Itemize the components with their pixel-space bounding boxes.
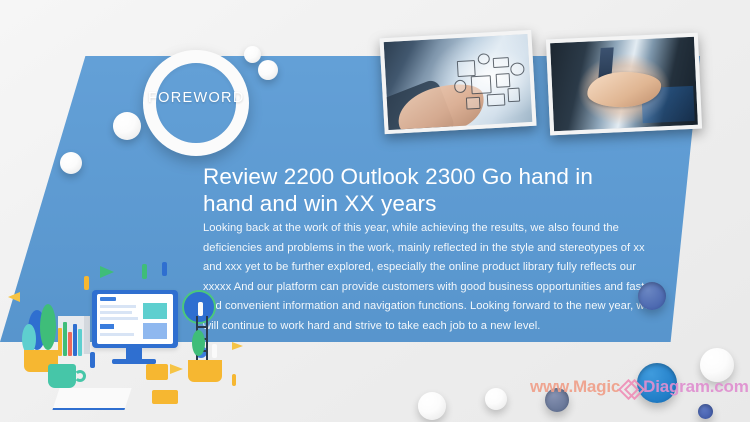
keyboard-shape: [52, 388, 131, 410]
decor-dot: [60, 152, 82, 174]
handshake-photo: [546, 33, 702, 136]
flat-teamwork-illustration: [0, 268, 252, 422]
person-figure: [232, 374, 236, 386]
sticky-note: [152, 390, 178, 404]
person-figure: [90, 352, 95, 368]
paper-plane-icon: [8, 292, 20, 302]
ladder-rung: [196, 326, 208, 328]
plant-leaf: [192, 330, 205, 356]
presentation-slide: FOREWORD Review 2200 Outlook 2300 Go han…: [0, 0, 750, 422]
digital-icons-overlay: [451, 48, 532, 116]
paper-plane-icon: [170, 364, 183, 374]
foreword-label: FOREWORD: [148, 90, 278, 106]
person-figure: [212, 344, 217, 358]
mug-handle: [74, 370, 86, 382]
hand-with-digital-icons-photo: [379, 30, 536, 134]
mug-shape: [48, 364, 76, 388]
monitor-screen: [97, 294, 173, 344]
decor-dot: [418, 392, 446, 420]
person-figure: [162, 262, 167, 276]
person-figure: [198, 302, 203, 316]
plant-leaf: [40, 304, 56, 350]
foreword-badge: FOREWORD: [143, 50, 249, 156]
slide-title: Review 2200 Outlook 2300 Go hand in hand…: [203, 163, 623, 217]
decor-dot-small-blue: [698, 404, 713, 419]
plant-pot: [188, 360, 222, 382]
decor-dot: [485, 388, 507, 410]
decor-dot: [700, 348, 734, 382]
decor-dot-grey-blue: [545, 388, 569, 412]
decor-dot-bright-blue: [637, 363, 677, 403]
books-shape: [56, 318, 90, 356]
sticky-note: [146, 364, 168, 380]
watermark-prefix: www.Magic: [530, 377, 620, 397]
decor-dot: [258, 60, 278, 80]
decor-dot: [113, 112, 141, 140]
decor-dot-dark-blue: [638, 282, 666, 310]
person-figure: [142, 264, 147, 279]
paper-plane-icon: [232, 342, 243, 350]
person-figure: [84, 276, 89, 290]
slide-body-text: Looking back at the work of this year, w…: [203, 219, 666, 337]
paper-plane-icon: [100, 266, 114, 278]
decor-dot: [244, 46, 261, 63]
